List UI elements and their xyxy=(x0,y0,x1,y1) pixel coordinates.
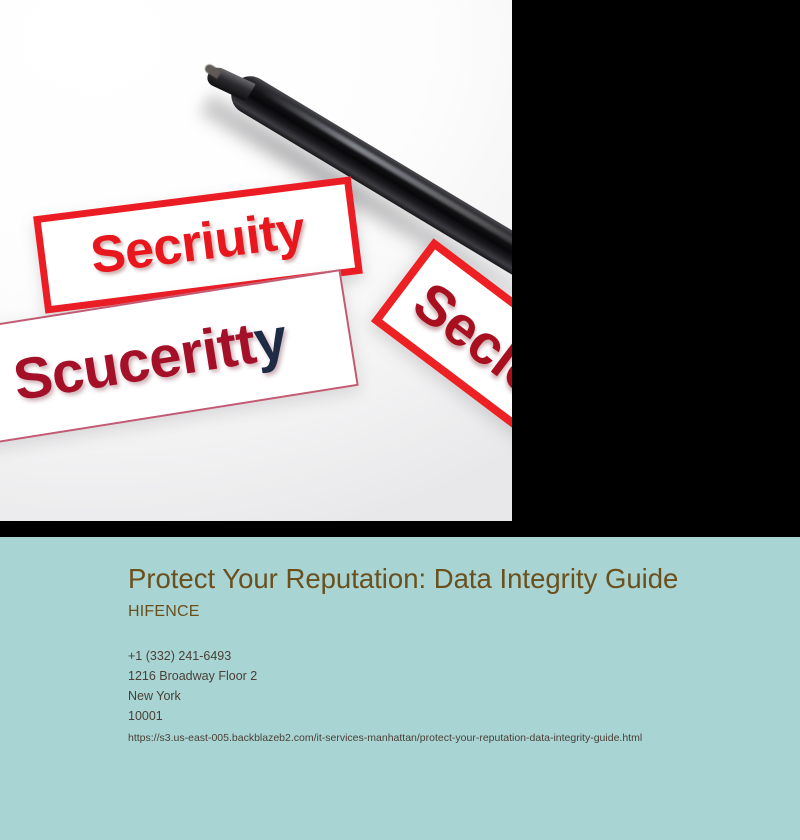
contact-city: New York xyxy=(128,686,760,706)
contact-street: 1216 Broadway Floor 2 xyxy=(128,666,760,686)
brand-name: HIFENCE xyxy=(128,603,760,621)
word-stamp-label: Secriuity xyxy=(87,200,308,286)
hero-photo: Secriuity Scuceritty Seclo xyxy=(0,0,512,521)
contact-postal-code: 10001 xyxy=(128,706,760,726)
page-root: Secriuity Scuceritty Seclo Protect Your … xyxy=(0,0,800,840)
contact-block: +1 (332) 241-6493 1216 Broadway Floor 2 … xyxy=(128,646,760,746)
page-title: Protect Your Reputation: Data Integrity … xyxy=(128,563,688,594)
word-stamp-label: Scuceritt xyxy=(9,309,260,413)
info-panel: Protect Your Reputation: Data Integrity … xyxy=(0,537,800,840)
contact-phone: +1 (332) 241-6493 xyxy=(128,646,760,666)
info-content: Protect Your Reputation: Data Integrity … xyxy=(128,563,760,746)
source-url-link[interactable]: https://s3.us-east-005.backblazeb2.com/i… xyxy=(128,730,760,746)
